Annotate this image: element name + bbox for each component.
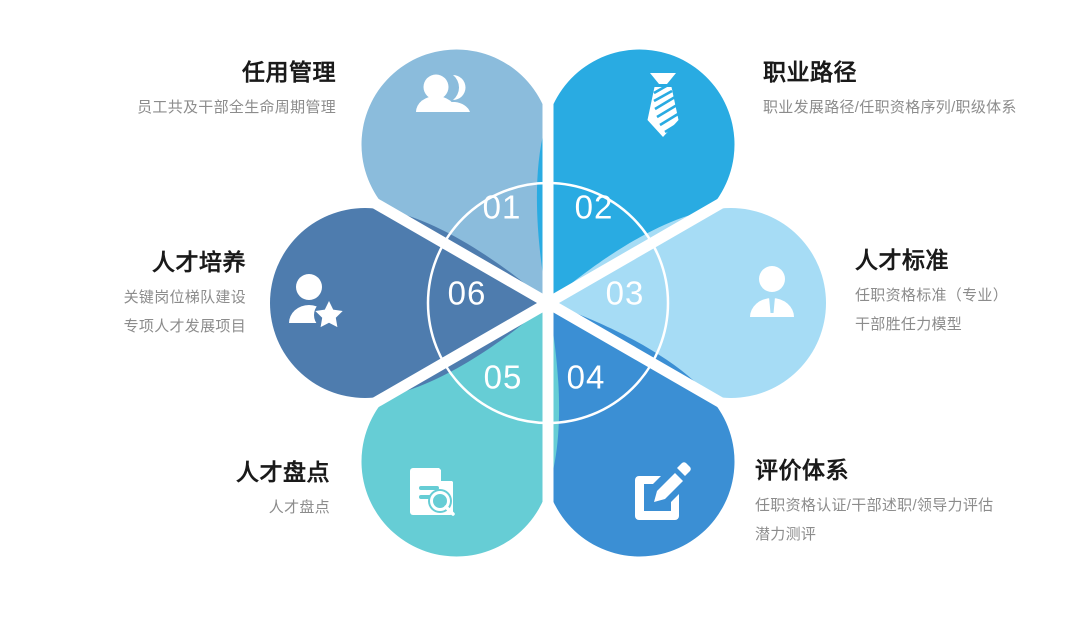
label-sub-03-line1: 任职资格标准（专业） [855, 281, 1008, 310]
label-sub-04-line2: 潜力测评 [755, 520, 993, 549]
label-sub-06-line2: 专项人才发展项目 [0, 312, 246, 341]
label-sub-03-line2: 干部胜任力模型 [855, 310, 1008, 339]
label-sub-02-line1: 职业发展路径/任职资格序列/职级体系 [763, 93, 1017, 122]
number-06: 06 [448, 275, 487, 312]
label-title-01: 任用管理 [0, 58, 336, 87]
label-block-05: 人才盘点 人才盘点 [0, 458, 330, 522]
label-title-06: 人才培养 [0, 248, 246, 277]
label-title-04: 评价体系 [755, 456, 993, 485]
label-title-03: 人才标准 [855, 246, 1008, 275]
label-sub-05-line1: 人才盘点 [0, 493, 330, 522]
label-sub-04-line1: 任职资格认证/干部述职/领导力评估 [755, 491, 993, 520]
document-search-icon [410, 468, 453, 515]
infographic-canvas: 01 02 03 04 05 06 [0, 0, 1081, 626]
number-05: 05 [484, 359, 523, 396]
label-block-04: 评价体系 任职资格认证/干部述职/领导力评估 潜力测评 [755, 456, 993, 549]
number-01: 01 [483, 189, 522, 226]
label-sub-01-line1: 员工共及干部全生命周期管理 [0, 93, 336, 122]
label-title-05: 人才盘点 [0, 458, 330, 487]
label-block-02: 职业路径 职业发展路径/任职资格序列/职级体系 [763, 58, 1017, 122]
number-02: 02 [575, 189, 614, 226]
label-title-02: 职业路径 [763, 58, 1017, 87]
label-block-06: 人才培养 关键岗位梯队建设 专项人才发展项目 [0, 248, 246, 341]
number-04: 04 [567, 359, 606, 396]
label-sub-06-line1: 关键岗位梯队建设 [0, 283, 246, 312]
label-block-03: 人才标准 任职资格标准（专业） 干部胜任力模型 [855, 246, 1008, 339]
label-block-01: 任用管理 员工共及干部全生命周期管理 [0, 58, 336, 122]
number-03: 03 [606, 275, 645, 312]
